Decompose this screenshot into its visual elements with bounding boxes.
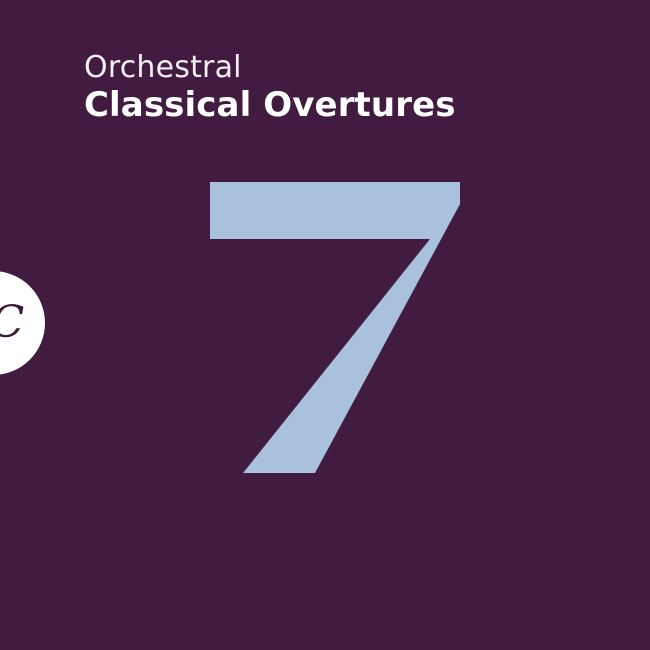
seven-glyph-path — [210, 182, 460, 473]
genre-label: Orchestral — [84, 52, 604, 84]
classics-badge: C — [0, 271, 45, 375]
page-title: Classical Overtures — [84, 86, 604, 124]
badge-letter-c: C — [0, 301, 24, 345]
title-block: Orchestral Classical Overtures — [84, 52, 604, 124]
album-cover: Orchestral Classical Overtures C — [0, 0, 650, 650]
